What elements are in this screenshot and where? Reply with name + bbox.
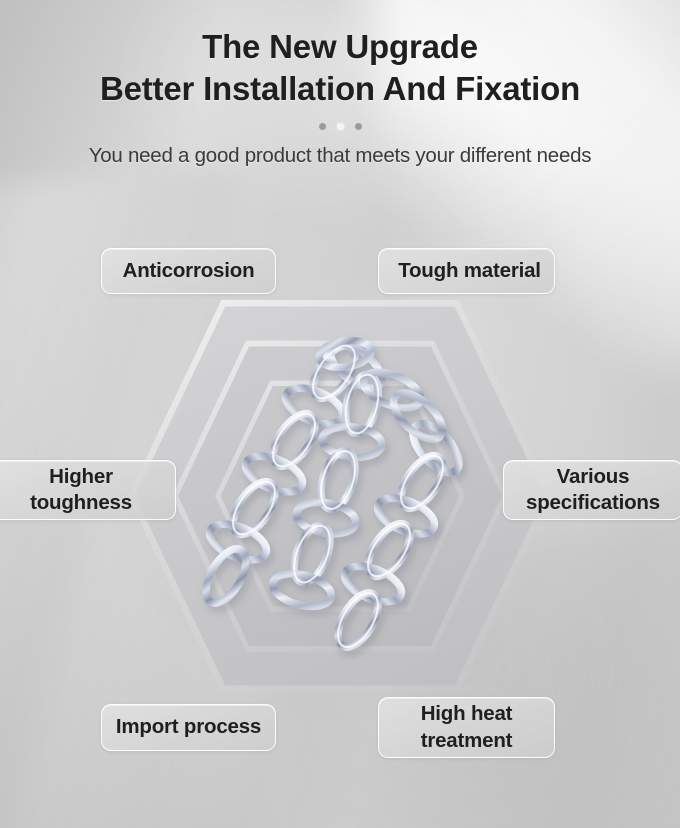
feature-label-high-heat-treatment[interactable]: High heat treatment bbox=[378, 697, 555, 758]
feature-label-text: Various specifications bbox=[526, 464, 660, 516]
hexagon-ring-inner-fill bbox=[221, 386, 460, 607]
feature-label-import-process[interactable]: Import process bbox=[101, 704, 276, 751]
feature-label-text: Tough material bbox=[398, 258, 541, 284]
feature-label-line-2: toughness bbox=[30, 490, 132, 516]
feature-label-text: Higher toughness bbox=[30, 464, 132, 516]
feature-label-line-2: treatment bbox=[421, 728, 513, 754]
page-subtitle: You need a good product that meets your … bbox=[0, 144, 680, 168]
title-line-2: Better Installation And Fixation bbox=[0, 68, 680, 110]
feature-label-various-specifications[interactable]: Various specifications bbox=[503, 460, 680, 520]
dot-separator bbox=[0, 123, 680, 130]
feature-label-text: Anticorrosion bbox=[123, 258, 255, 284]
page-title: The New Upgrade Better Installation And … bbox=[0, 0, 680, 110]
feature-label-line-1: High heat bbox=[421, 701, 513, 727]
feature-label-line-1: Various bbox=[526, 464, 660, 490]
separator-dot-right bbox=[355, 123, 362, 130]
feature-label-text: Import process bbox=[116, 714, 261, 740]
feature-label-higher-toughness[interactable]: Higher toughness bbox=[0, 460, 176, 520]
feature-label-text: High heat treatment bbox=[421, 701, 513, 753]
feature-label-line-1: Higher bbox=[30, 464, 132, 490]
header: The New Upgrade Better Installation And … bbox=[0, 0, 680, 168]
product-infographic: The New Upgrade Better Installation And … bbox=[0, 0, 680, 828]
feature-label-anticorrosion[interactable]: Anticorrosion bbox=[101, 248, 276, 294]
nested-hexagon-frame bbox=[128, 300, 552, 692]
title-line-1: The New Upgrade bbox=[0, 26, 680, 68]
feature-label-tough-material[interactable]: Tough material bbox=[378, 248, 555, 294]
separator-dot-left bbox=[319, 123, 326, 130]
separator-dot-center bbox=[337, 123, 344, 130]
feature-label-line-2: specifications bbox=[526, 490, 660, 516]
